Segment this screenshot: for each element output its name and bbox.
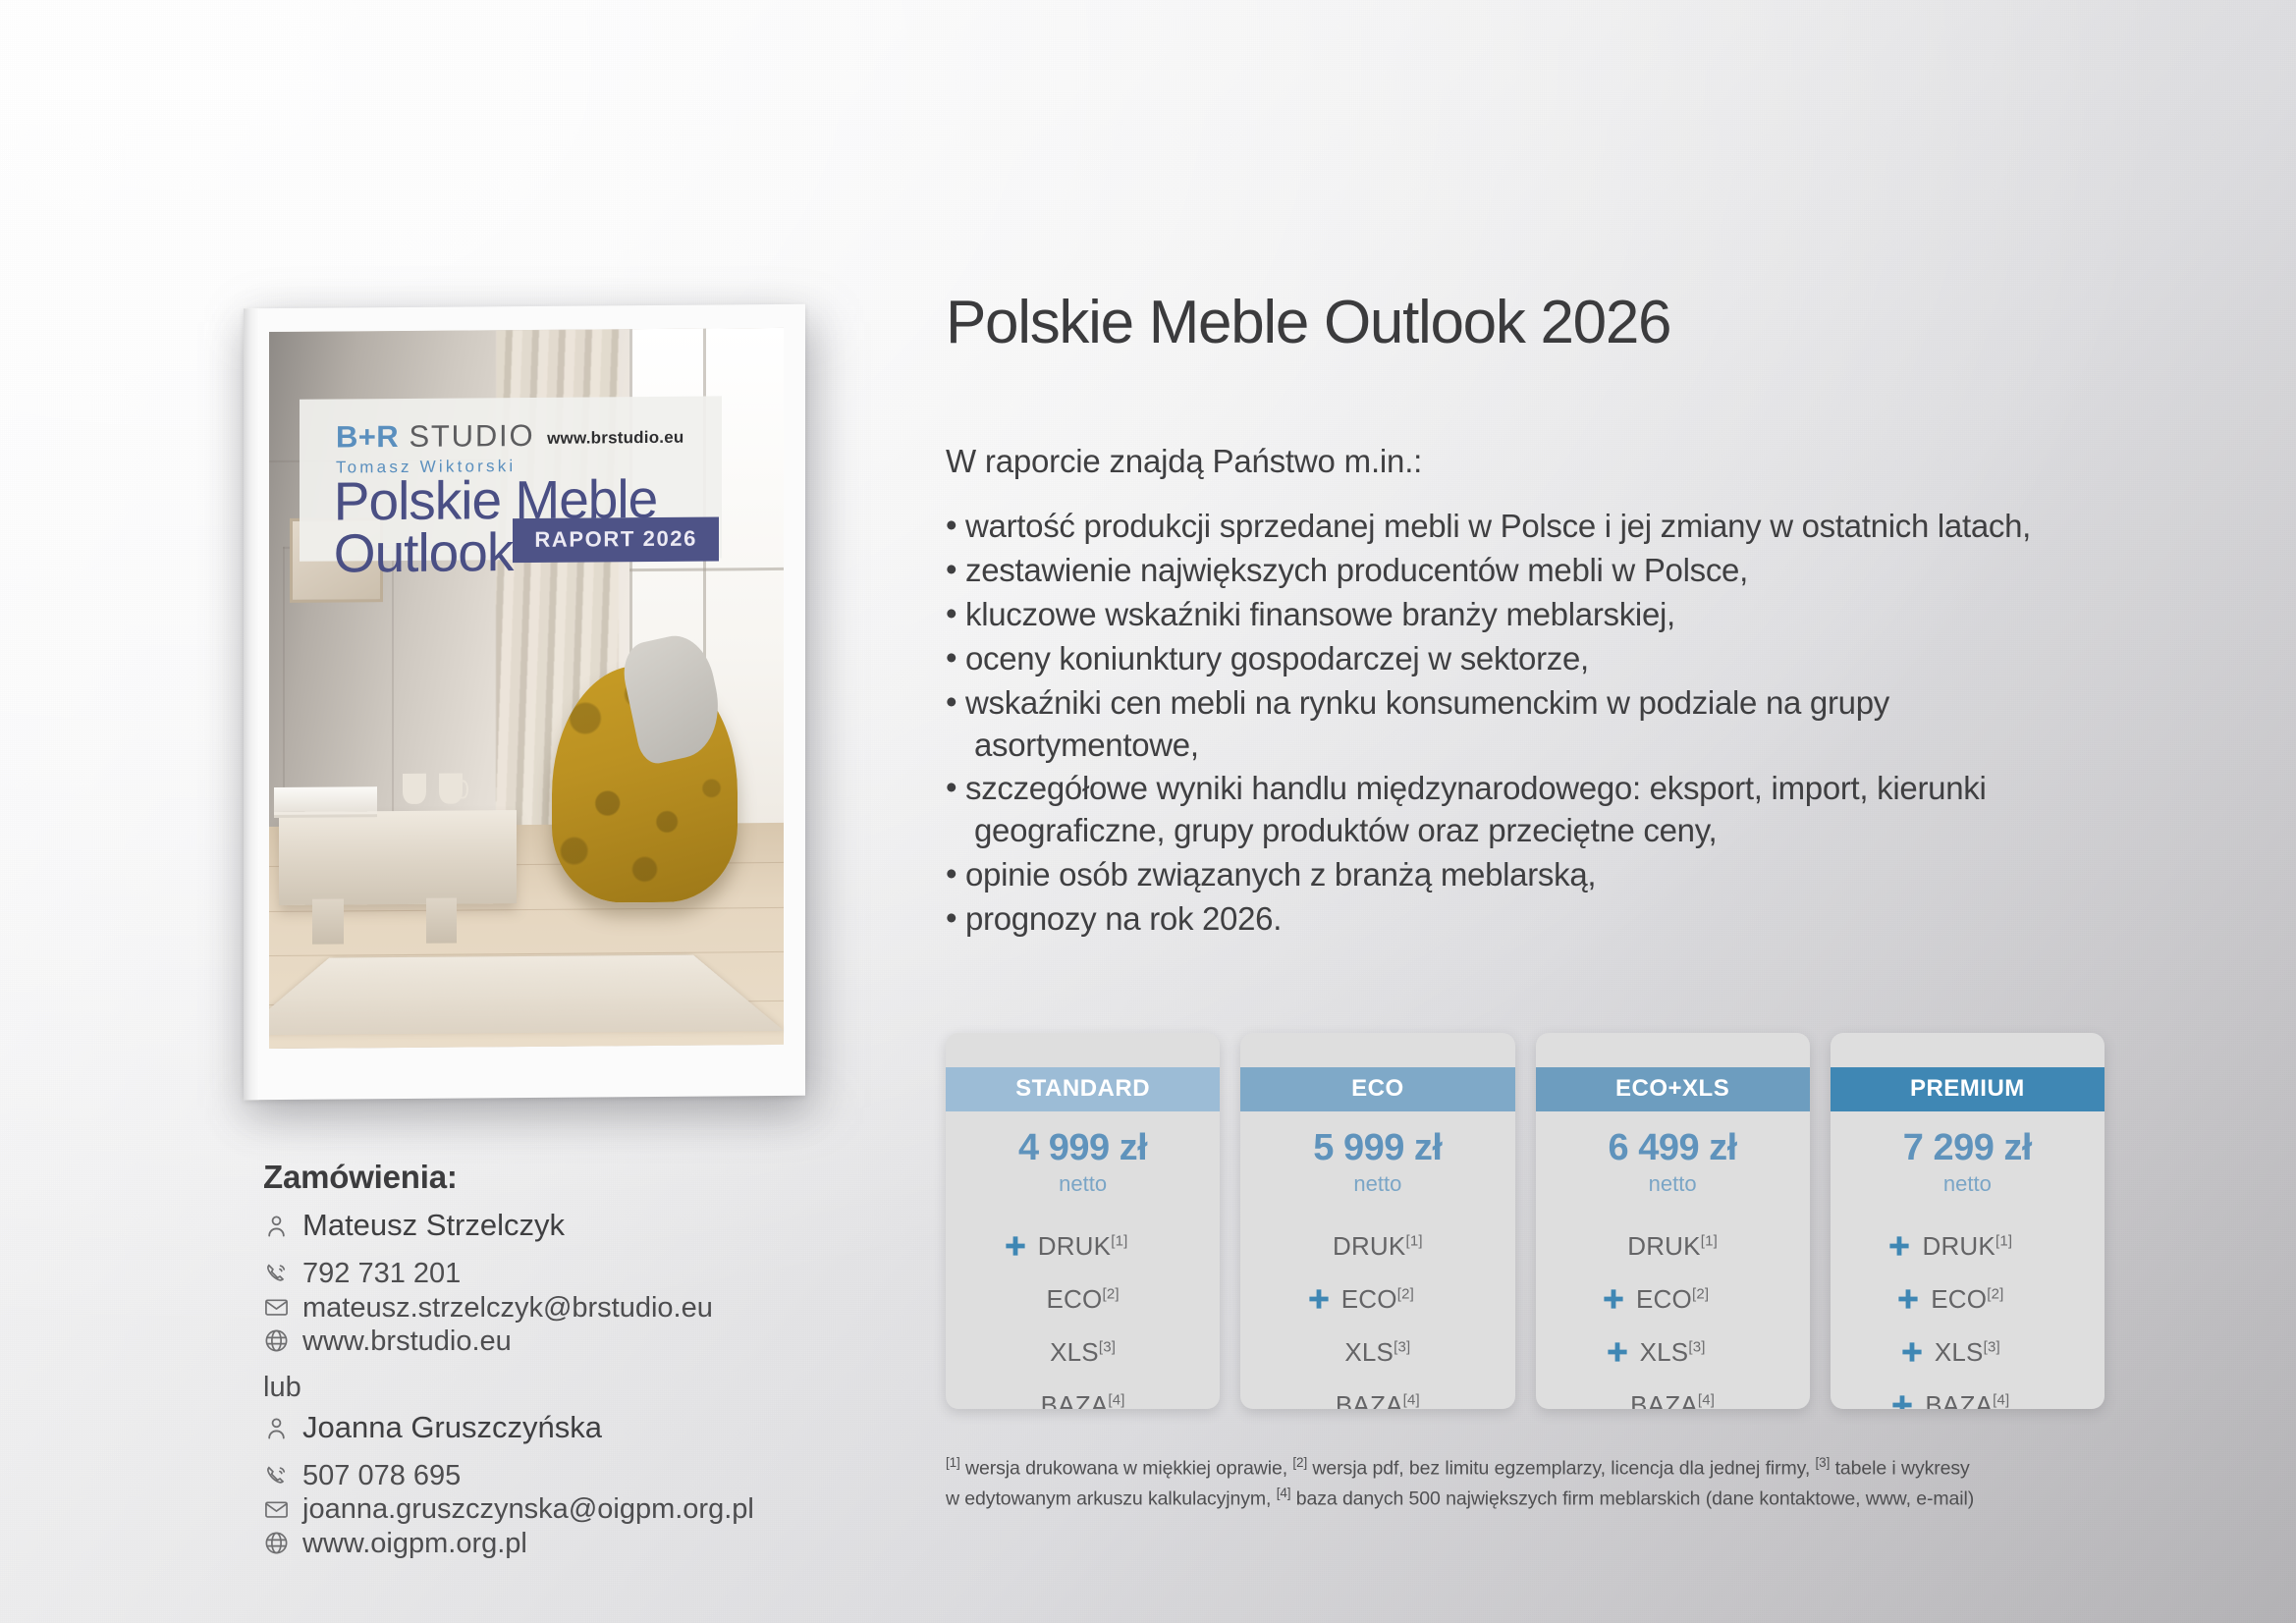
pricing-card-eco-xls[interactable]: ECO+XLS6 499 złnettoDRUK[1]ECO[2]XLS[3]B… <box>1536 1033 1810 1409</box>
contact-web-row[interactable]: www.brstudio.eu <box>263 1325 872 1358</box>
feature-row-eco: ECO[2] <box>946 1283 1220 1315</box>
envelope-icon <box>263 1294 290 1321</box>
feature-row-druk: DRUK[1] <box>1536 1230 1810 1262</box>
book-spine <box>244 308 259 1100</box>
plus-icon <box>1602 1287 1625 1311</box>
feature-row-druk: DRUK[1] <box>1831 1230 2105 1262</box>
pricing-card-title: ECO <box>1240 1067 1514 1111</box>
feature-footnote-marker: [3] <box>1099 1338 1116 1355</box>
feature-footnote-marker: [3] <box>1394 1338 1410 1355</box>
brand-mark-bold: B+R <box>336 419 399 455</box>
feature-row-xls: XLS[3] <box>1240 1336 1514 1368</box>
pricing-card-features: DRUK[1]ECO[2]XLS[3]BAZA[4] <box>1536 1230 1810 1409</box>
contact-web: www.brstudio.eu <box>302 1325 512 1358</box>
pricing-card-eco[interactable]: ECO5 999 złnettoDRUK[1]ECO[2]XLS[3]BAZA[… <box>1240 1033 1514 1409</box>
list-item-continuation: asortymentowe, <box>965 725 2105 767</box>
footnote-marker: [2] <box>1292 1455 1307 1470</box>
contact-name: Joanna Gruszczyńska <box>302 1408 602 1447</box>
scene-rug <box>269 954 784 1035</box>
list-item-text: prognozy na rok 2026. <box>965 900 1282 937</box>
plus-icon <box>1890 1393 1914 1409</box>
feature-label: BAZA[4] <box>1336 1390 1420 1410</box>
feature-footnote-marker: [4] <box>1698 1391 1715 1408</box>
footnote-line-1: [1] wersja drukowana w miękkiej oprawie,… <box>946 1453 2109 1484</box>
feature-label: XLS[3] <box>1344 1337 1410 1368</box>
feature-footnote-marker: [4] <box>1403 1391 1420 1408</box>
scene-mug <box>439 774 463 804</box>
cover-brand-logo: B+R STUDIO Tomasz Wiktorski <box>336 420 534 476</box>
pricing-card-netto-label: netto <box>1059 1171 1107 1197</box>
pricing-cards: STANDARD4 999 złnettoDRUK[1]ECO[2]XLS[3]… <box>946 1033 2105 1409</box>
list-item-text: wskaźniki cen mebli na rynku konsumencki… <box>965 684 1889 721</box>
pricing-card-netto-label: netto <box>1649 1171 1697 1197</box>
cover-website: www.brstudio.eu <box>547 427 683 448</box>
poster-canvas: B+R STUDIO Tomasz Wiktorski www.brstudio… <box>0 0 2296 1623</box>
feature-row-baza: BAZA[4] <box>1536 1389 1810 1409</box>
feature-footnote-marker: [1] <box>1405 1232 1422 1249</box>
contact-phone-row[interactable]: 792 731 201 <box>263 1257 872 1290</box>
list-item: opinie osób związanych z branżą meblarsk… <box>946 854 2105 896</box>
plus-icon <box>1896 1287 1920 1311</box>
list-item-text: wartość produkcji sprzedanej mebli w Pol… <box>965 508 2031 544</box>
pricing-card-title: STANDARD <box>946 1067 1220 1111</box>
footnote-marker: [1] <box>946 1455 960 1470</box>
feature-row-baza: BAZA[4] <box>1240 1389 1514 1409</box>
list-item-text: opinie osób związanych z branżą meblarsk… <box>965 856 1596 893</box>
list-item: zestawienie największych producentów meb… <box>946 550 2105 592</box>
feature-row-baza: BAZA[4] <box>1831 1389 2105 1409</box>
feature-footnote-marker: [2] <box>1692 1285 1709 1302</box>
feature-footnote-marker: [1] <box>1995 1232 2012 1249</box>
feature-label: ECO[2] <box>1047 1284 1120 1315</box>
plus-icon <box>1004 1234 1027 1258</box>
contact-web: www.oigpm.org.pl <box>302 1527 527 1560</box>
list-item-text: oceny koniunktury gospodarczej w sektorz… <box>965 640 1589 676</box>
contact-email-row-2[interactable]: joanna.gruszczynska@oigpm.org.pl <box>263 1492 872 1526</box>
list-item: prognozy na rok 2026. <box>946 898 2105 941</box>
feature-row-druk: DRUK[1] <box>1240 1230 1514 1262</box>
feature-footnote-marker: [4] <box>1108 1391 1124 1408</box>
list-item-continuation: geograficzne, grupy produktów oraz przec… <box>965 810 2105 852</box>
person-icon <box>263 1213 290 1239</box>
feature-label: ECO[2] <box>1636 1284 1709 1315</box>
list-item: wartość produkcji sprzedanej mebli w Pol… <box>946 506 2105 548</box>
plus-icon <box>1887 1234 1911 1258</box>
envelope-icon <box>263 1496 290 1523</box>
feature-row-xls: XLS[3] <box>946 1336 1220 1368</box>
feature-row-xls: XLS[3] <box>1536 1336 1810 1368</box>
feature-row-druk: DRUK[1] <box>946 1230 1220 1262</box>
feature-footnote-marker: [3] <box>1688 1338 1705 1355</box>
plus-icon <box>1900 1340 1924 1364</box>
list-item: wskaźniki cen mebli na rynku konsumencki… <box>946 682 2105 767</box>
phone-icon <box>263 1463 290 1489</box>
feature-label: DRUK[1] <box>1627 1231 1718 1262</box>
phone-icon <box>263 1261 290 1287</box>
contact-phone-row-2[interactable]: 507 078 695 <box>263 1459 872 1492</box>
pricing-card-price: 5 999 zł <box>1313 1127 1442 1169</box>
orders-section: Zamówienia: Mateusz Strzelczyk 792 731 2… <box>263 1159 872 1560</box>
page-title: Polskie Meble Outlook 2026 <box>946 291 2105 354</box>
scene-book-stack <box>274 786 377 812</box>
pricing-card-netto-label: netto <box>1943 1171 1992 1197</box>
pricing-card-price: 4 999 zł <box>1018 1127 1147 1169</box>
feature-row-xls: XLS[3] <box>1831 1336 2105 1368</box>
footnotes: [1] wersja drukowana w miękkiej oprawie,… <box>946 1453 2109 1514</box>
feature-footnote-marker: [1] <box>1701 1232 1718 1249</box>
pricing-card-price: 7 299 zł <box>1903 1127 2032 1169</box>
feature-row-eco: ECO[2] <box>1831 1283 2105 1315</box>
pricing-card-standard[interactable]: STANDARD4 999 złnettoDRUK[1]ECO[2]XLS[3]… <box>946 1033 1220 1409</box>
pricing-card-title: PREMIUM <box>1831 1067 2105 1111</box>
feature-label: BAZA[4] <box>1925 1390 2009 1410</box>
feature-footnote-marker: [2] <box>1102 1285 1119 1302</box>
feature-footnote-marker: [2] <box>1397 1285 1414 1302</box>
feature-footnote-marker: [1] <box>1111 1232 1127 1249</box>
report-book-mockup: B+R STUDIO Tomasz Wiktorski www.brstudio… <box>244 306 805 1100</box>
scene-cup <box>403 774 426 804</box>
pricing-card-features: DRUK[1]ECO[2]XLS[3]BAZA[4] <box>1831 1230 2105 1409</box>
book-cover-artwork: B+R STUDIO Tomasz Wiktorski www.brstudio… <box>269 328 784 1049</box>
feature-label: ECO[2] <box>1341 1284 1414 1315</box>
contact-email: mateusz.strzelczyk@brstudio.eu <box>302 1291 713 1325</box>
feature-label: DRUK[1] <box>1922 1231 2012 1262</box>
brand-mark-rest: STUDIO <box>399 418 534 454</box>
report-contents-list: wartość produkcji sprzedanej mebli w Pol… <box>946 506 2105 941</box>
feature-label: BAZA[4] <box>1630 1390 1715 1410</box>
orders-or-label: lub <box>263 1372 872 1404</box>
pricing-card-netto-label: netto <box>1353 1171 1401 1197</box>
cover-title-band: B+R STUDIO Tomasz Wiktorski www.brstudio… <box>300 397 722 562</box>
list-item: kluczowe wskaźniki finansowe branży mebl… <box>946 594 2105 636</box>
feature-label: DRUK[1] <box>1038 1231 1128 1262</box>
globe-icon <box>263 1530 290 1556</box>
contact-phone: 507 078 695 <box>302 1459 461 1492</box>
pricing-card-premium[interactable]: PREMIUM7 299 złnettoDRUK[1]ECO[2]XLS[3]B… <box>1831 1033 2105 1409</box>
list-item: oceny koniunktury gospodarczej w sektorz… <box>946 638 2105 680</box>
list-item: szczegółowe wyniki handlu międzynarodowe… <box>946 768 2105 852</box>
cover-title-line2: Outlook <box>334 521 514 583</box>
pricing-card-features: DRUK[1]ECO[2]XLS[3]BAZA[4] <box>1240 1230 1514 1409</box>
feature-label: XLS[3] <box>1640 1337 1706 1368</box>
feature-label: BAZA[4] <box>1041 1390 1125 1410</box>
pricing-card-features: DRUK[1]ECO[2]XLS[3]BAZA[4] <box>946 1230 1220 1409</box>
list-item-text: zestawienie największych producentów meb… <box>965 552 1748 588</box>
book-body: B+R STUDIO Tomasz Wiktorski www.brstudio… <box>244 304 805 1100</box>
person-icon <box>263 1415 290 1441</box>
plus-icon <box>1307 1287 1331 1311</box>
contact-name: Mateusz Strzelczyk <box>302 1206 565 1245</box>
feature-footnote-marker: [2] <box>1987 1285 2003 1302</box>
orders-heading: Zamówienia: <box>263 1159 872 1196</box>
contact-email-row[interactable]: mateusz.strzelczyk@brstudio.eu <box>263 1291 872 1325</box>
feature-label: XLS[3] <box>1050 1337 1116 1368</box>
contact-name-row: Mateusz Strzelczyk <box>263 1206 872 1245</box>
scene-coffee-table <box>279 810 516 905</box>
contact-email: joanna.gruszczynska@oigpm.org.pl <box>302 1492 754 1526</box>
feature-row-eco: ECO[2] <box>1536 1283 1810 1315</box>
cover-report-badge: RAPORT 2026 <box>513 516 719 563</box>
content-column: Polskie Meble Outlook 2026 W raporcie zn… <box>946 291 2105 943</box>
pricing-card-title: ECO+XLS <box>1536 1067 1810 1111</box>
feature-label: ECO[2] <box>1931 1284 2003 1315</box>
feature-label: XLS[3] <box>1935 1337 2000 1368</box>
intro-lead: W raporcie znajdą Państwo m.in.: <box>946 443 2105 480</box>
list-item-text: szczegółowe wyniki handlu międzynarodowe… <box>965 770 1986 806</box>
feature-row-baza: BAZA[4] <box>946 1389 1220 1409</box>
list-item-text: kluczowe wskaźniki finansowe branży mebl… <box>965 596 1675 632</box>
footnote-line-2: w edytowanym arkuszu kalkulacyjnym, [4] … <box>946 1484 2109 1514</box>
contact-web-row-2[interactable]: www.oigpm.org.pl <box>263 1527 872 1560</box>
feature-row-eco: ECO[2] <box>1240 1283 1514 1315</box>
footnote-marker: [3] <box>1816 1455 1831 1470</box>
pricing-card-price: 6 499 zł <box>1609 1127 1737 1169</box>
contact-name-row-2: Joanna Gruszczyńska <box>263 1408 872 1447</box>
footnote-marker: [4] <box>1277 1486 1291 1500</box>
contact-phone: 792 731 201 <box>302 1257 461 1290</box>
feature-footnote-marker: [3] <box>1984 1338 2000 1355</box>
globe-icon <box>263 1327 290 1354</box>
feature-label: DRUK[1] <box>1333 1231 1423 1262</box>
plus-icon <box>1606 1340 1629 1364</box>
feature-footnote-marker: [4] <box>1993 1391 2009 1408</box>
